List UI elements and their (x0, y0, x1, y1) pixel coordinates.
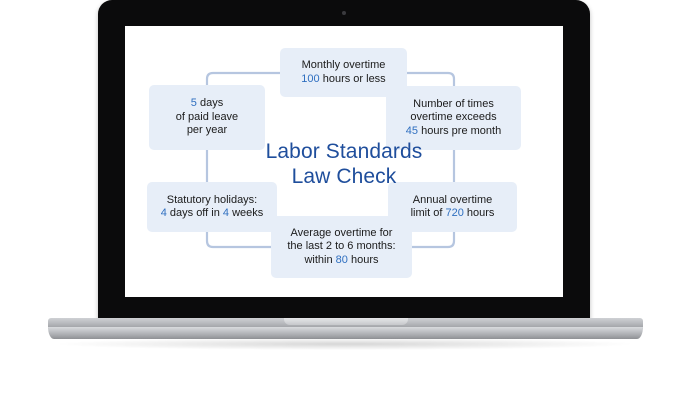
laptop-mockup: Monthly overtime100 hours or less Number… (0, 0, 691, 416)
node-text: Statutory holidays:4 days off in 4 weeks (161, 194, 264, 221)
node-text: 5 daysof paid leaveper year (176, 97, 238, 138)
labor-standards-diagram: Monthly overtime100 hours or less Number… (125, 26, 563, 297)
node-text: Monthly overtime100 hours or less (301, 59, 385, 86)
laptop-front-notch (284, 318, 408, 325)
node-text: Average overtime forthe last 2 to 6 mont… (287, 227, 395, 268)
laptop-lid: Monthly overtime100 hours or less Number… (98, 0, 590, 322)
laptop-shadow (60, 338, 630, 350)
node-text: Number of timesovertime exceeds45 hours … (406, 98, 501, 139)
center-title-line-2: Law Check (292, 164, 397, 189)
node-average-overtime: Average overtime forthe last 2 to 6 mont… (271, 216, 412, 278)
camera-dot-icon (342, 11, 346, 15)
node-text: Annual overtimelimit of 720 hours (411, 194, 495, 221)
laptop-screen: Monthly overtime100 hours or less Number… (125, 26, 563, 297)
diagram-center-title: Labor Standards Law Check (234, 134, 454, 194)
center-title-line-1: Labor Standards (266, 139, 423, 164)
laptop-base (48, 318, 643, 340)
